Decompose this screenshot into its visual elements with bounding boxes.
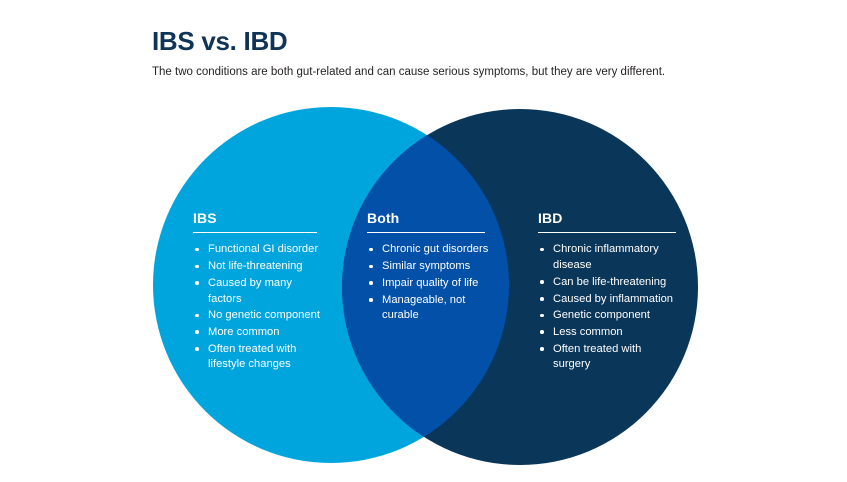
bullet-icon	[540, 330, 544, 334]
list-item-label: Often treated with lifestyle changes	[208, 343, 296, 371]
list-item-label: Can be life-threatening	[553, 276, 666, 288]
ibs-vs-ibd-infographic: IBS vs. IBD The two conditions are both …	[0, 0, 847, 482]
list-item-label: Not life-threatening	[208, 260, 303, 272]
venn-diagram: IBS Functional GI disorder Not life-thre…	[0, 0, 847, 482]
list-item-label: Manageable, not curable	[382, 294, 465, 322]
list-item-label: Often treated with surgery	[553, 343, 641, 371]
list-item: Not life-threatening	[193, 259, 321, 275]
section-heading-both: Both	[367, 211, 489, 226]
list-item: Caused by inflammation	[538, 292, 678, 308]
section-heading-ibs: IBS	[193, 211, 321, 226]
list-item-label: Functional GI disorder	[208, 243, 318, 255]
list-item: Manageable, not curable	[367, 293, 489, 324]
list-item: Often treated with lifestyle changes	[193, 342, 321, 373]
list-item: Can be life-threatening	[538, 275, 678, 291]
list-item-label: Caused by many factors	[208, 277, 292, 305]
list-item-label: Similar symptoms	[382, 260, 470, 272]
heading-rule-both	[367, 232, 485, 233]
bullet-icon	[369, 248, 373, 252]
heading-rule-ibd	[538, 232, 676, 233]
list-item-label: Caused by inflammation	[553, 293, 673, 305]
bullet-icon	[195, 248, 199, 252]
list-item-label: Chronic gut disorders	[382, 243, 488, 255]
bullet-icon	[369, 298, 373, 302]
section-heading-ibd: IBD	[538, 211, 678, 226]
list-item-label: More common	[208, 326, 280, 338]
list-both: Chronic gut disorders Similar symptoms I…	[367, 242, 489, 324]
list-item: Often treated with surgery	[538, 342, 678, 373]
bullet-icon	[195, 347, 199, 351]
list-item: Chronic inflammatory disease	[538, 242, 678, 273]
list-item: Less common	[538, 325, 678, 341]
list-item: Functional GI disorder	[193, 242, 321, 258]
list-ibd: Chronic inflammatory disease Can be life…	[538, 242, 678, 373]
list-item: Impair quality of life	[367, 276, 489, 292]
list-item: Genetic component	[538, 308, 678, 324]
venn-section-ibs: IBS Functional GI disorder Not life-thre…	[193, 211, 321, 374]
list-item-label: Impair quality of life	[382, 277, 478, 289]
bullet-icon	[540, 314, 544, 318]
list-item-label: Less common	[553, 326, 623, 338]
list-item-label: Chronic inflammatory disease	[553, 243, 659, 271]
bullet-icon	[540, 347, 544, 351]
bullet-icon	[369, 265, 373, 269]
list-item-label: No genetic component	[208, 309, 320, 321]
list-item: No genetic component	[193, 308, 321, 324]
bullet-icon	[195, 330, 199, 334]
bullet-icon	[540, 297, 544, 301]
bullet-icon	[540, 280, 544, 284]
bullet-icon	[540, 248, 544, 252]
bullet-icon	[195, 281, 199, 285]
list-item: Similar symptoms	[367, 259, 489, 275]
bullet-icon	[195, 314, 199, 318]
bullet-icon	[369, 281, 373, 285]
list-item: More common	[193, 325, 321, 341]
list-item: Chronic gut disorders	[367, 242, 489, 258]
list-item-label: Genetic component	[553, 309, 650, 321]
heading-rule-ibs	[193, 232, 317, 233]
venn-section-both: Both Chronic gut disorders Similar sympt…	[367, 211, 489, 325]
venn-section-ibd: IBD Chronic inflammatory disease Can be …	[538, 211, 678, 374]
list-ibs: Functional GI disorder Not life-threaten…	[193, 242, 321, 373]
list-item: Caused by many factors	[193, 276, 321, 307]
bullet-icon	[195, 265, 199, 269]
